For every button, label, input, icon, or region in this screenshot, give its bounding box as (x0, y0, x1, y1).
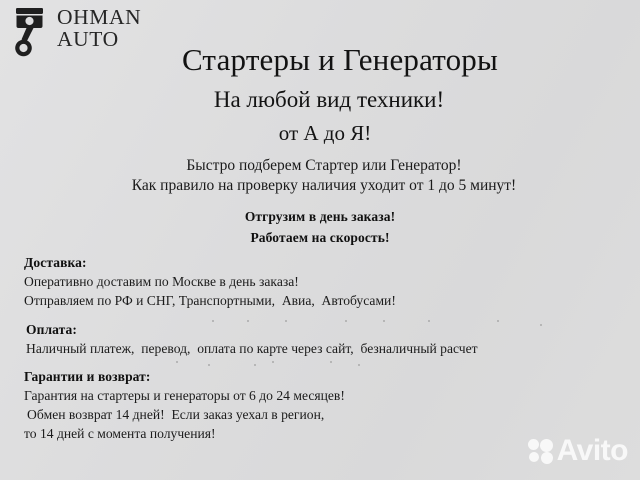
avito-dots-icon (528, 439, 554, 464)
intro-line-2: Как правило на проверку наличия уходит о… (8, 176, 640, 196)
scan-speck (428, 320, 430, 322)
section-warranty: Гарантии и возврат: Гарантия на стартеры… (24, 367, 620, 443)
scan-speck (383, 320, 385, 322)
section-payment: Оплата: Наличный платеж, перевод, оплата… (24, 320, 620, 358)
scan-speck (247, 320, 249, 322)
avito-wordmark: Avito (557, 436, 628, 466)
page-subtitle: На любой вид техники! (0, 88, 640, 111)
scan-speck (330, 361, 332, 363)
scan-speck (254, 364, 256, 366)
section-delivery-line-1: Оперативно доставим по Москве в день зак… (24, 272, 620, 291)
scan-speck (540, 324, 542, 326)
promise-line-1: Отгрузим в день заказа! (0, 206, 640, 227)
scan-speck (176, 361, 178, 363)
section-delivery-line-2: Отправляем по РФ и СНГ, Транспортными, А… (24, 291, 620, 310)
section-warranty-line-1: Гарантия на стартеры и генераторы от 6 д… (24, 386, 620, 405)
scan-speck (272, 361, 274, 363)
scan-speck (212, 320, 214, 322)
section-delivery-title: Доставка: (24, 253, 620, 272)
section-warranty-title: Гарантии и возврат: (24, 367, 620, 386)
avito-watermark: Avito (528, 436, 628, 466)
info-sections: Доставка: Оперативно доставим по Москве … (24, 253, 620, 453)
brand-line-1: OHMAN (57, 7, 141, 29)
section-payment-title: Оплата: (24, 320, 620, 339)
scan-speck (285, 320, 287, 322)
intro-line-1: Быстро подберем Стартер или Генератор! (8, 156, 640, 176)
page-title: Стартеры и Генераторы (0, 44, 640, 75)
promise-text: Отгрузим в день заказа! Работаем на скор… (0, 206, 640, 248)
advertisement-poster: OHMAN AUTO Стартеры и Генераторы На любо… (0, 0, 640, 480)
scan-speck (345, 320, 347, 322)
section-payment-line-1: Наличный платеж, перевод, оплата по карт… (24, 339, 620, 358)
promise-line-2: Работаем на скорость! (0, 227, 640, 248)
page-tagline: от А до Я! (0, 123, 640, 144)
scan-speck (208, 364, 210, 366)
scan-speck (358, 364, 360, 366)
intro-text: Быстро подберем Стартер или Генератор! К… (0, 156, 640, 196)
section-delivery: Доставка: Оперативно доставим по Москве … (24, 253, 620, 310)
scan-speck (497, 320, 499, 322)
section-warranty-line-2: Обмен возврат 14 дней! Если заказ уехал … (24, 405, 620, 424)
